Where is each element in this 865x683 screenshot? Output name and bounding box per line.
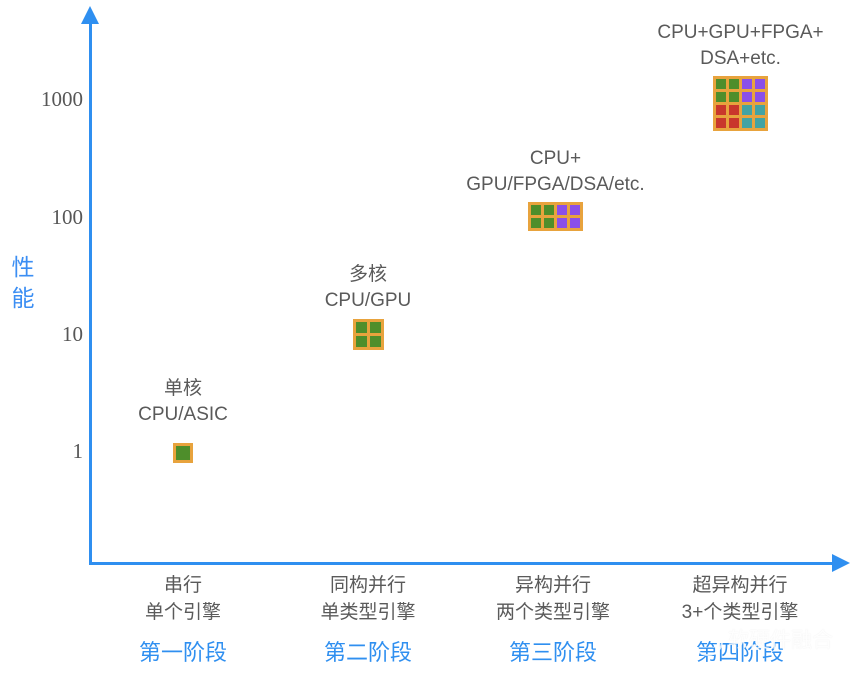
y-axis-line: [89, 22, 92, 565]
marker-cell: [531, 218, 541, 228]
marker-grid: [353, 319, 384, 350]
x-axis-stage-label: 第二阶段: [278, 639, 458, 667]
data-point-group-2: 多核 CPU/GPU: [278, 262, 458, 350]
marker-cell: [176, 446, 190, 460]
marker-cell: [356, 322, 367, 333]
marker-cell: [544, 218, 554, 228]
x-axis-desc-line1: 同构并行: [278, 572, 458, 599]
data-point-label-line1: 多核: [278, 262, 458, 288]
x-axis-stage-label: 第一阶段: [93, 639, 273, 667]
marker-row: [716, 89, 765, 102]
marker-cell: [742, 105, 752, 115]
x-axis-group-3: 异构并行 两个类型引擎 第三阶段: [463, 572, 643, 667]
marker-cell: [557, 218, 567, 228]
y-axis-title: 性能: [8, 252, 38, 314]
data-point-label-line2: GPU/FPGA/DSA/etc.: [433, 172, 678, 198]
x-axis-desc-line2: 3+个类型引擎: [650, 599, 830, 626]
marker-cell: [531, 205, 541, 215]
marker-cell: [356, 336, 367, 347]
marker-cell: [755, 105, 765, 115]
marker-cell: [729, 92, 739, 102]
data-point-group-3: CPU+ GPU/FPGA/DSA/etc.: [433, 146, 678, 231]
data-point-label-line1: CPU+GPU+FPGA+: [618, 20, 863, 46]
marker-cell: [729, 105, 739, 115]
y-tick-1: 1: [0, 441, 83, 463]
marker-grid: [713, 76, 768, 131]
marker-grid: [528, 202, 583, 231]
y-tick-label: 100: [52, 207, 84, 228]
marker-cell: [370, 322, 381, 333]
marker-row: [716, 115, 765, 128]
marker-row: [531, 215, 580, 228]
y-tick-10: 10: [0, 324, 83, 346]
x-axis-desc-line2: 单类型引擎: [278, 599, 458, 626]
x-axis-stage-label: 第三阶段: [463, 639, 643, 667]
x-axis-line: [89, 562, 835, 565]
marker-cell: [544, 205, 554, 215]
marker-cell: [716, 92, 726, 102]
marker-cell: [557, 205, 567, 215]
marker-cell: [742, 79, 752, 89]
x-axis-group-4: 超异构并行 3+个类型引擎 第四阶段: [650, 572, 830, 667]
x-axis-desc-line1: 串行: [93, 572, 273, 599]
y-tick-label: 1: [73, 441, 84, 462]
marker-cell: [716, 105, 726, 115]
marker-cell: [716, 79, 726, 89]
data-point-label-line2: DSA+etc.: [618, 46, 863, 72]
marker-grid: [173, 443, 193, 463]
x-axis-desc-line1: 超异构并行: [650, 572, 830, 599]
marker-cell: [570, 205, 580, 215]
y-tick-1000: 1000: [0, 89, 83, 111]
data-point-label-line1: CPU+: [433, 146, 678, 172]
x-axis-group-2: 同构并行 单类型引擎 第二阶段: [278, 572, 458, 667]
chart-canvas: 性能 1000 100 10 1 单核 CPU/ASIC 多核 CPU/GPU …: [0, 0, 865, 683]
data-point-marker-wrap: [618, 76, 863, 131]
marker-row: [356, 322, 381, 333]
marker-row: [176, 446, 190, 460]
data-point-label-line1: 单核: [93, 376, 273, 402]
data-point-marker-wrap: [433, 202, 678, 231]
y-tick-label: 1000: [41, 89, 83, 110]
marker-cell: [755, 118, 765, 128]
x-axis-arrow-icon: [832, 554, 850, 572]
marker-cell: [742, 118, 752, 128]
marker-cell: [729, 79, 739, 89]
y-axis-arrow-icon: [81, 6, 99, 24]
marker-cell: [716, 118, 726, 128]
data-point-marker-wrap: [278, 319, 458, 350]
marker-cell: [755, 92, 765, 102]
x-axis-stage-label: 第四阶段: [650, 639, 830, 667]
y-tick-label: 10: [62, 324, 83, 345]
data-point-label-line2: CPU/GPU: [278, 288, 458, 314]
marker-row: [356, 333, 381, 347]
marker-cell: [742, 92, 752, 102]
marker-cell: [570, 218, 580, 228]
data-point-group-4: CPU+GPU+FPGA+ DSA+etc.: [618, 20, 863, 131]
marker-row: [531, 205, 580, 215]
marker-cell: [729, 118, 739, 128]
x-axis-desc-line1: 异构并行: [463, 572, 643, 599]
x-axis-group-1: 串行 单个引擎 第一阶段: [93, 572, 273, 667]
y-tick-100: 100: [0, 207, 83, 229]
marker-cell: [370, 336, 381, 347]
data-point-label-line2: CPU/ASIC: [93, 402, 273, 428]
data-point-group-1: 单核 CPU/ASIC: [93, 376, 273, 463]
marker-cell: [755, 79, 765, 89]
x-axis-desc-line2: 两个类型引擎: [463, 599, 643, 626]
marker-row: [716, 102, 765, 115]
x-axis-desc-line2: 单个引擎: [93, 599, 273, 626]
data-point-marker-wrap: [93, 433, 273, 463]
marker-row: [716, 79, 765, 89]
